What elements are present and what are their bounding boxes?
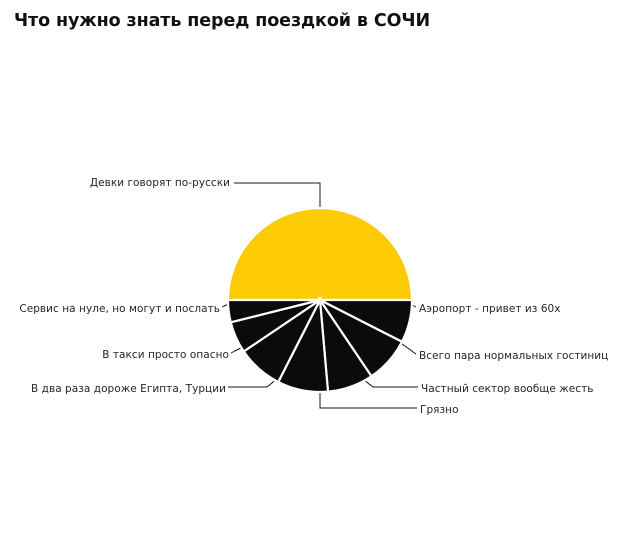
callout-label-aeroport: Аэропорт - привет из 60х bbox=[419, 303, 561, 315]
callout-label-devki-govoryat: Девки говорят по-русски bbox=[90, 177, 230, 189]
pie-slices-group bbox=[228, 208, 412, 392]
pie-chart-svg: Девки говорят по-русски Сервис на нуле, … bbox=[0, 0, 640, 535]
callout-label-gostinic: Всего пара нормальных гостиниц bbox=[419, 350, 608, 362]
pie-chart-figure: Девки говорят по-русски Сервис на нуле, … bbox=[0, 0, 640, 535]
callout-label-gryazno: Грязно bbox=[420, 404, 459, 416]
leader-line-top-devki bbox=[234, 183, 320, 212]
pie-slice-devki-govoryat-po-russki[interactable] bbox=[228, 208, 412, 300]
callout-label-dorozhe-egipta: В два раза дороже Египта, Турции bbox=[31, 383, 226, 395]
leader-line-gryazno bbox=[320, 392, 417, 408]
callout-label-chastny-sektor: Частный сектор вообще жесть bbox=[421, 383, 594, 395]
callout-label-servis-na-nule: Сервис на нуле, но могут и послать bbox=[19, 303, 220, 315]
callout-label-taksi-opasno: В такси просто опасно bbox=[102, 349, 229, 361]
